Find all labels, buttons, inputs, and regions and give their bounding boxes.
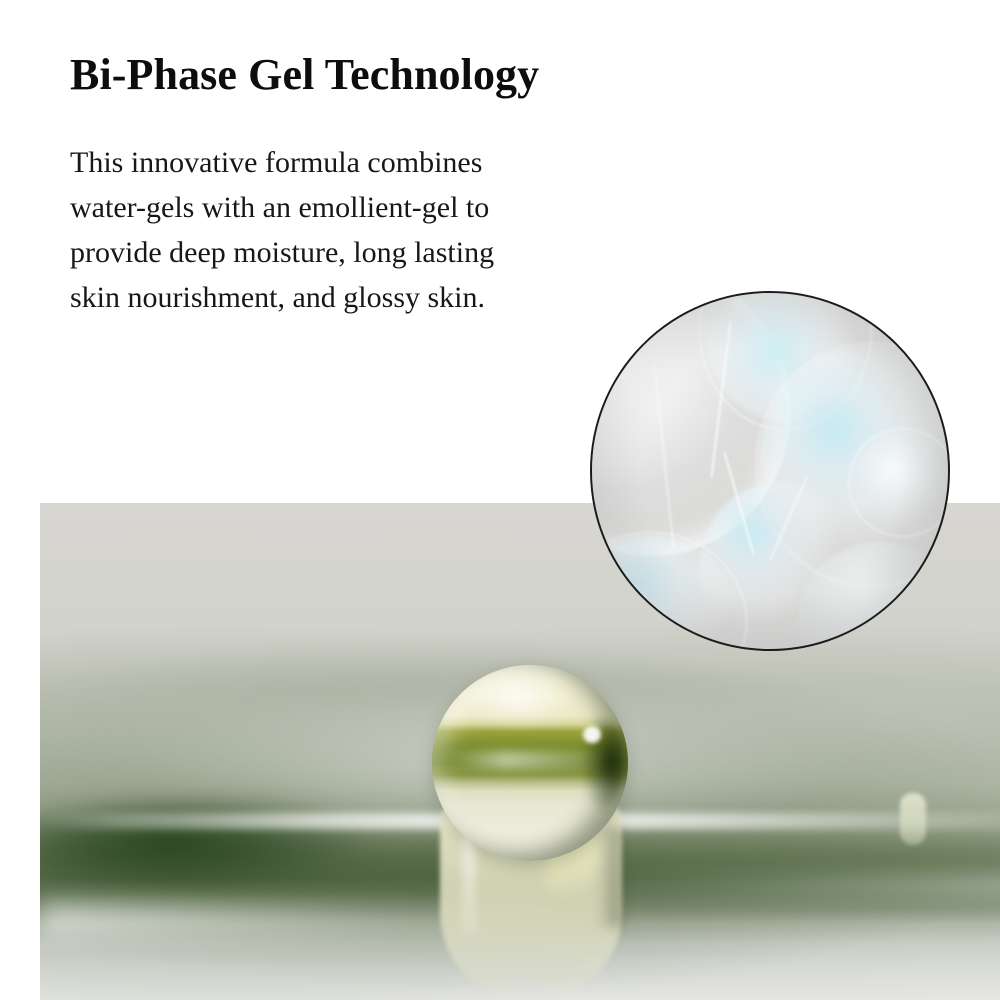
bi-phase-droplet: [432, 665, 628, 861]
bubble-film-line: [723, 451, 754, 554]
bubble-bottom-center: [699, 482, 863, 651]
bubble-film-line: [654, 365, 675, 549]
bubble-film-line: [711, 322, 732, 478]
bubble-top-center-rim: [699, 291, 872, 430]
bubble-nested-small: [848, 428, 950, 537]
bubble-bottom-right: [798, 542, 950, 651]
green-shadow-ridge: [40, 801, 420, 891]
reflection-dark-rim: [597, 827, 622, 927]
gel-bubbles-macro-circle: [590, 291, 950, 651]
bubble-right-large-rim: [756, 343, 950, 587]
macro-bubble-field: [592, 293, 948, 649]
bubble-bottom-left-rim: [590, 532, 747, 651]
page-title: Bi-Phase Gel Technology: [70, 49, 539, 101]
droplet-top-sheen: [463, 677, 585, 728]
bubble-bottom-left: [590, 535, 742, 651]
bubble-top-center: [702, 291, 866, 421]
bubble-upper-left: [590, 291, 791, 556]
product-infographic: Bi-Phase Gel Technology This innovative …: [0, 0, 1000, 1000]
bubble-right-large: [759, 346, 950, 581]
bubble-film-line: [769, 475, 808, 560]
secondary-droplet: [900, 793, 926, 845]
droplet-specular-highlight: [583, 726, 601, 744]
body-description: This innovative formula combines water-g…: [70, 140, 540, 320]
pool-streak-right: [560, 872, 1000, 898]
